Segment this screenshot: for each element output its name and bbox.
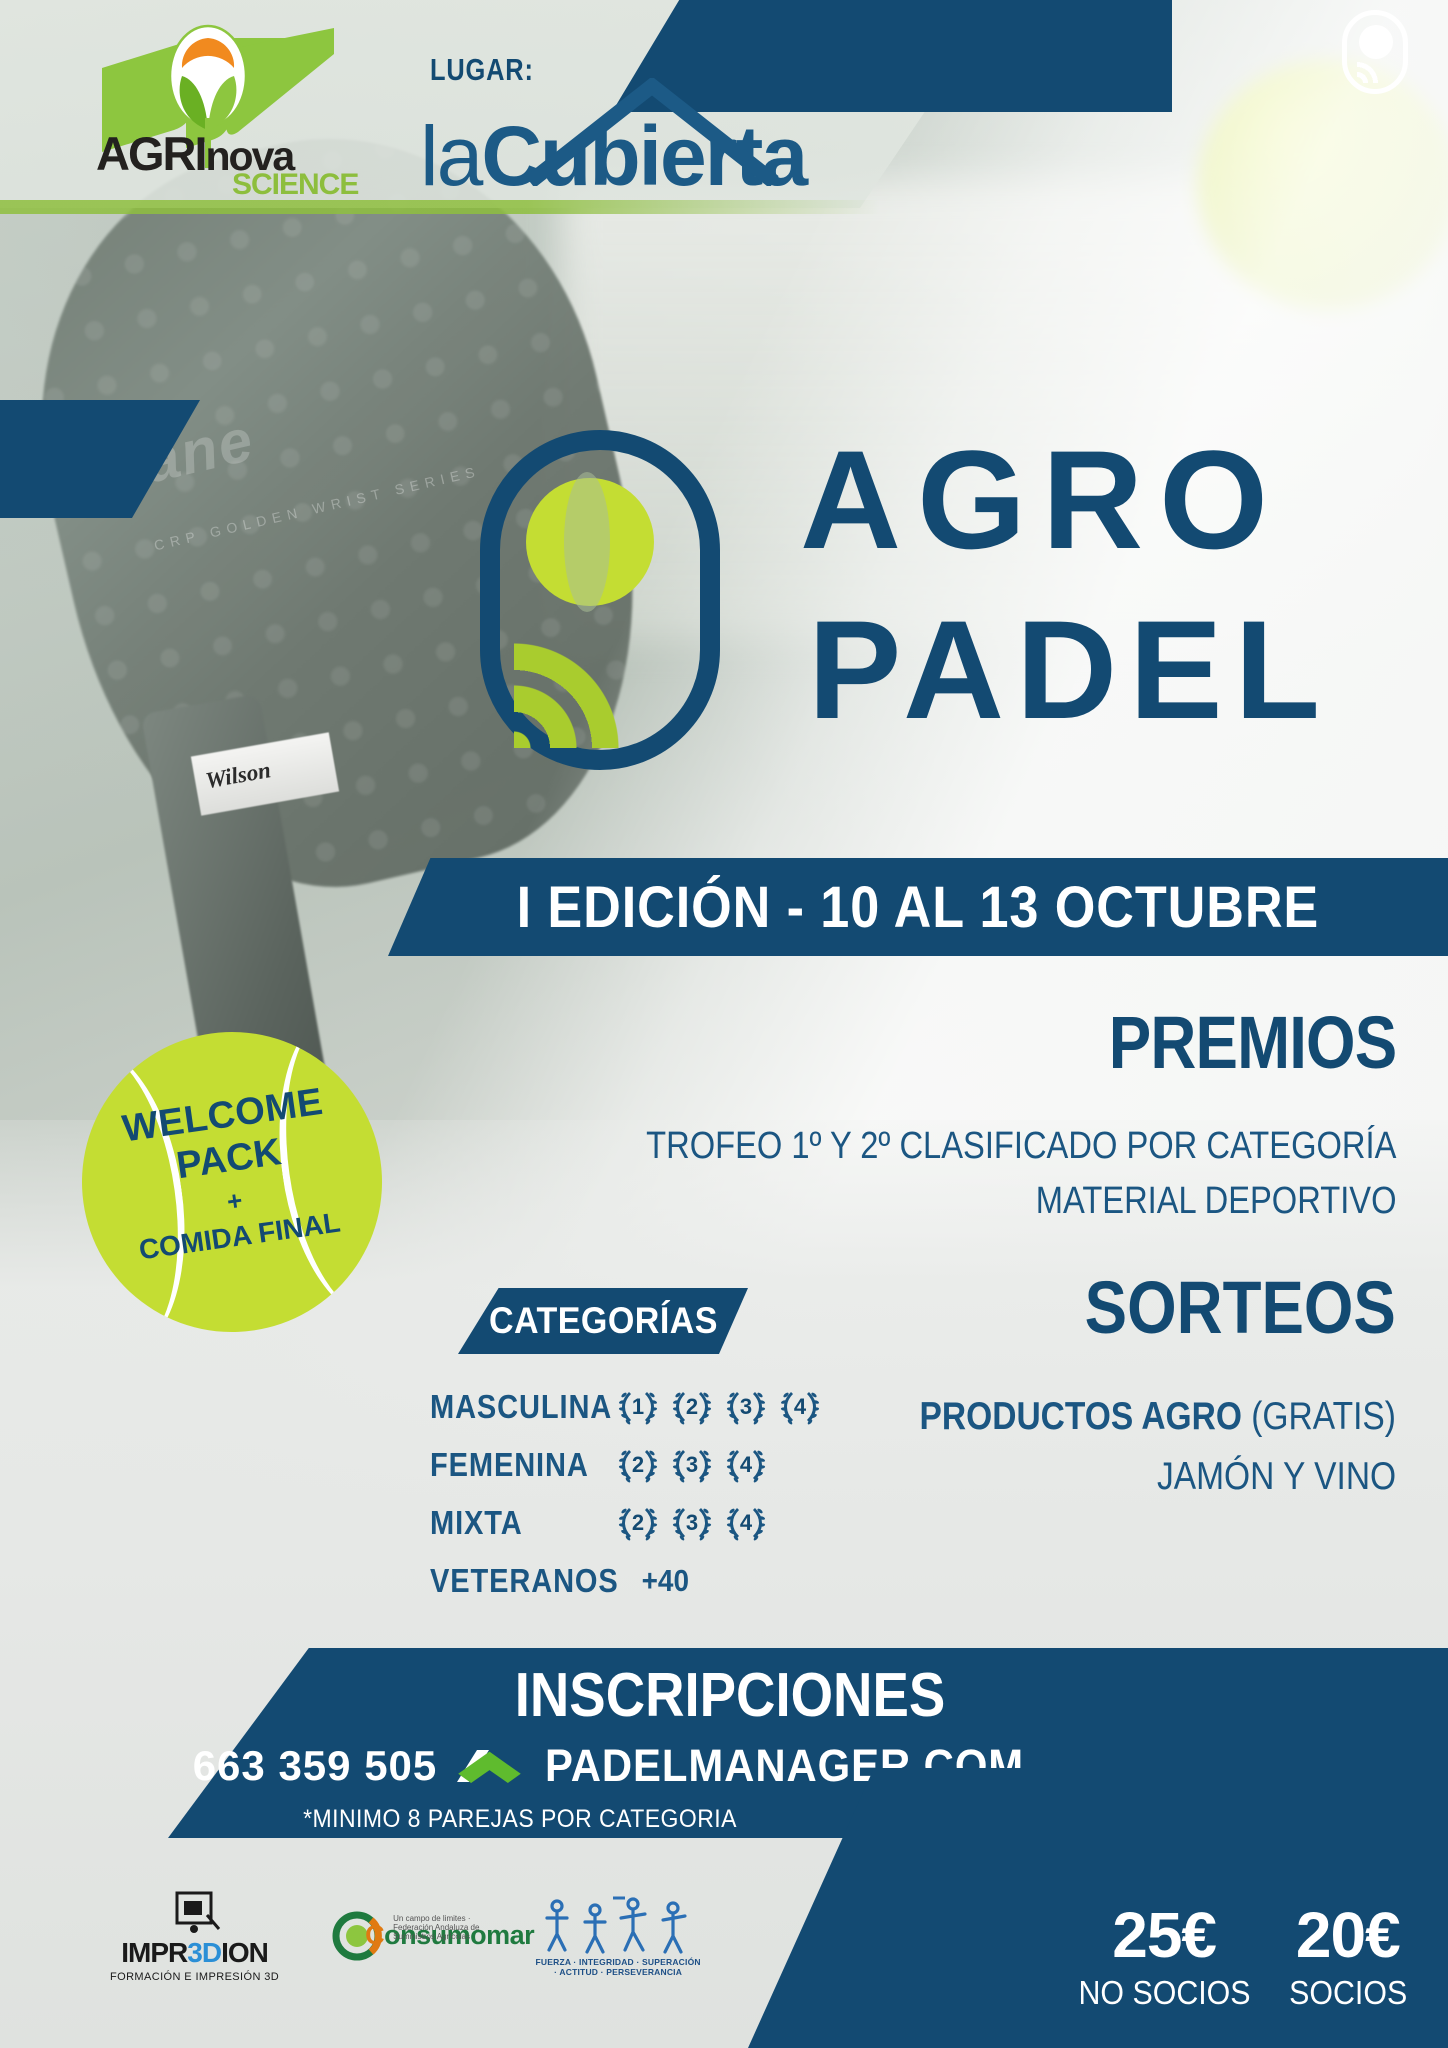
consumomar-c: C bbox=[365, 1920, 384, 1950]
price-label: SOCIOS bbox=[1289, 1974, 1407, 2012]
categoria-name: MIXTA bbox=[430, 1504, 593, 1542]
categoria-level-number: 4 bbox=[723, 1510, 769, 1536]
laurel-wreath-icon: 4 bbox=[777, 1384, 823, 1430]
price-list: 25€NO SOCIOS20€SOCIOS bbox=[788, 1898, 1448, 2012]
laurel-wreath-icon: 2 bbox=[669, 1384, 715, 1430]
agro-padel-roundel-icon bbox=[1342, 10, 1408, 94]
inscripciones-title: INSCRIPCIONES bbox=[422, 1660, 1038, 1731]
agrinova-science: SCIENCE bbox=[232, 168, 358, 202]
sponsor-logos: IMPR3DION FORMACIÓN E IMPRESIÓN 3D Consu… bbox=[110, 1876, 850, 1996]
laurel-wreath-icon: 3 bbox=[669, 1442, 715, 1488]
sorteos-item-1: JAMÓN Y VINO bbox=[1157, 1455, 1396, 1499]
date-banner: I EDICIÓN - 10 AL 13 OCTUBRE bbox=[388, 858, 1448, 956]
categoria-level-number: 3 bbox=[669, 1510, 715, 1536]
roundel-wave bbox=[1357, 57, 1397, 83]
categoria-name: MASCULINA bbox=[430, 1388, 593, 1426]
impr3dion-pre: IMPR bbox=[121, 1937, 187, 1968]
laurel-wreath-icon: 4 bbox=[723, 1442, 769, 1488]
impr3dion-mid: 3D bbox=[187, 1937, 221, 1968]
price-amount: 20€ bbox=[1284, 1898, 1412, 1972]
roundel-ball bbox=[1359, 25, 1393, 59]
premios-item-1: MATERIAL DEPORTIVO bbox=[1035, 1180, 1396, 1223]
impr3dion-wordmark: IMPR3DION bbox=[110, 1937, 279, 1969]
consumomar-tagline: Un campo de limites · Federación Andaluz… bbox=[393, 1914, 483, 1941]
sponsor-consumomar: Consumomar Un campo de limites · Federac… bbox=[331, 1910, 481, 1962]
fisap-figures-icon bbox=[533, 1896, 703, 1954]
price-amount: 25€ bbox=[1071, 1898, 1258, 1972]
premios-item-0: TROFEO 1º Y 2º CLASIFICADO POR CATEGORÍA bbox=[646, 1125, 1396, 1168]
categoria-levels: 1 2 3 bbox=[615, 1384, 823, 1430]
categoria-level-number: 4 bbox=[777, 1394, 823, 1420]
logo-ball bbox=[526, 478, 654, 606]
premios-title: PREMIOS bbox=[1109, 1000, 1396, 1085]
categorias-title: CATEGORÍAS bbox=[488, 1300, 717, 1342]
laurel-wreath-icon: 3 bbox=[723, 1384, 769, 1430]
inscripciones-phone[interactable]: 663 359 505 bbox=[150, 1742, 480, 1790]
categoria-level-number: 2 bbox=[615, 1510, 661, 1536]
categoria-level-number: 3 bbox=[723, 1394, 769, 1420]
welcome-pack-badge: WELCOME PACK + COMIDA FINAL bbox=[63, 1013, 402, 1352]
sponsor-impr3dion: IMPR3DION FORMACIÓN E IMPRESIÓN 3D bbox=[110, 1889, 279, 1983]
impr3dion-post: ION bbox=[221, 1937, 268, 1968]
categoria-level-number: 4 bbox=[723, 1452, 769, 1478]
agrinova-agri: AGRI bbox=[96, 127, 206, 180]
categorias-banner: CATEGORÍAS bbox=[458, 1288, 748, 1354]
categoria-level-number: 1 bbox=[615, 1394, 661, 1420]
sorteos-item-0: PRODUCTOS AGRO (GRATIS) bbox=[920, 1395, 1396, 1439]
categoria-row: VETERANOS+40 bbox=[430, 1552, 900, 1610]
padelmanager-chevron-logo-icon bbox=[455, 1744, 537, 1796]
categoria-levels: 2 3 4 bbox=[615, 1500, 769, 1546]
laurel-wreath-icon: 2 bbox=[615, 1442, 661, 1488]
price-label: NO SOCIOS bbox=[1078, 1974, 1250, 2012]
sorteos-item-0-light: (GRATIS) bbox=[1251, 1395, 1396, 1438]
categoria-levels: 2 3 4 bbox=[615, 1442, 769, 1488]
logo-wave bbox=[514, 618, 694, 748]
categoria-row: FEMENINA 2 bbox=[430, 1436, 900, 1494]
fisap-tagline: FUERZA · INTEGRIDAD · SUPERACIÓN · ACTIT… bbox=[533, 1957, 703, 1977]
categoria-row: MIXTA 2 bbox=[430, 1494, 900, 1552]
laurel-wreath-icon: 1 bbox=[615, 1384, 661, 1430]
sorteos-item-0-bold: PRODUCTOS AGRO bbox=[920, 1395, 1252, 1438]
categoria-value: +40 bbox=[642, 1563, 689, 1599]
laurel-wreath-icon: 4 bbox=[723, 1500, 769, 1546]
categoria-level-number: 3 bbox=[669, 1452, 715, 1478]
categoria-name: FEMENINA bbox=[430, 1446, 593, 1484]
poster-root: sane CRP GOLDEN WRIST SERIES Wilson AGRI… bbox=[0, 0, 1448, 2048]
venue-label: LUGAR: bbox=[430, 52, 534, 88]
venue-roof-icon bbox=[520, 78, 790, 186]
price-cell: 20€SOCIOS bbox=[1284, 1898, 1412, 2012]
sponsor-fisap: FUERZA · INTEGRIDAD · SUPERACIÓN · ACTIT… bbox=[533, 1896, 703, 1977]
date-text: I EDICIÓN - 10 AL 13 OCTUBRE bbox=[517, 874, 1320, 941]
categoria-name: VETERANOS bbox=[430, 1562, 593, 1600]
impr3dion-tagline: FORMACIÓN E IMPRESIÓN 3D bbox=[110, 1971, 279, 1983]
categoria-row: MASCULINA 1 bbox=[430, 1378, 900, 1436]
sorteos-title: SORTEOS bbox=[1085, 1265, 1396, 1350]
brand-line-agro: AGRO bbox=[800, 430, 1284, 570]
categoria-level-number: 2 bbox=[615, 1452, 661, 1478]
inscripciones-note: *MINIMO 8 PAREJAS POR CATEGORIA bbox=[262, 1805, 777, 1834]
laurel-wreath-icon: 3 bbox=[669, 1500, 715, 1546]
venue-la: la bbox=[420, 109, 481, 203]
categoria-level-number: 2 bbox=[669, 1394, 715, 1420]
padel-ball-wave-logo-icon bbox=[480, 430, 720, 770]
brand-line-padel: PADEL bbox=[808, 600, 1332, 740]
price-cell: 25€NO SOCIOS bbox=[1071, 1898, 1258, 2012]
laurel-wreath-icon: 2 bbox=[615, 1500, 661, 1546]
impr3dion-printer-icon bbox=[167, 1889, 223, 1935]
categorias-list: MASCULINA 1 bbox=[430, 1378, 900, 1610]
